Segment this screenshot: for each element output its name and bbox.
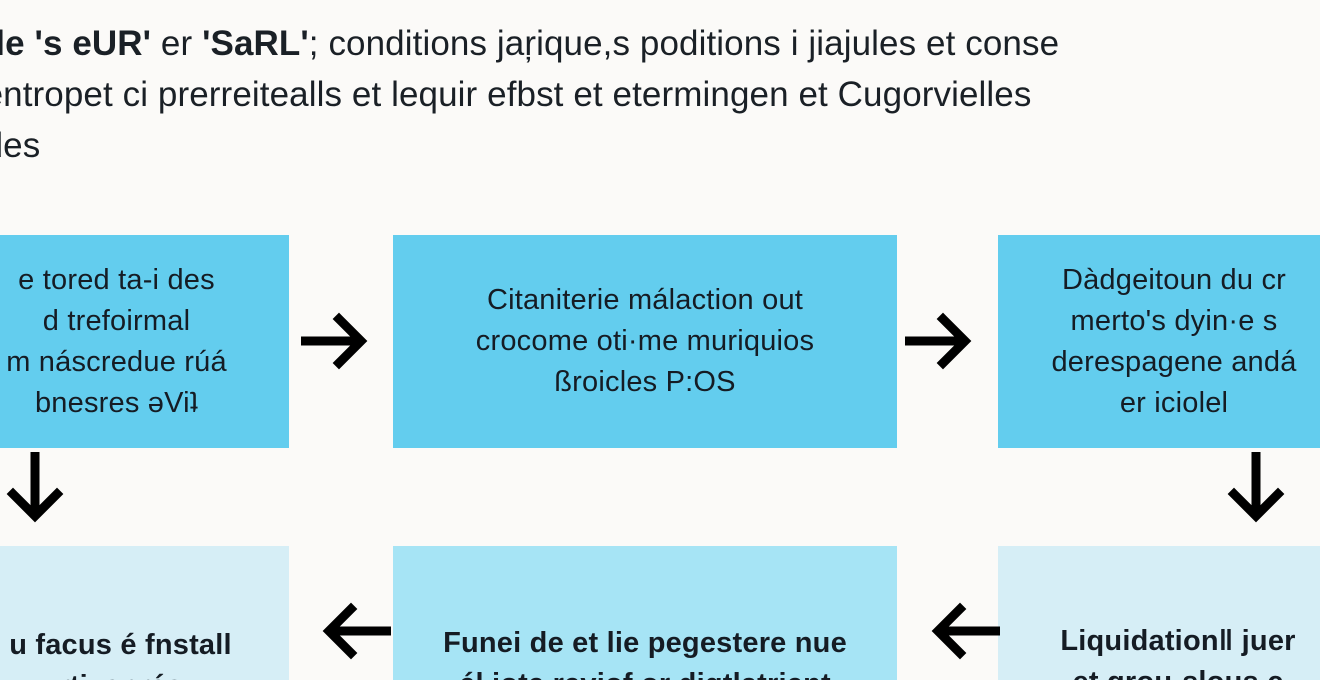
arrow-left-icon (311, 598, 391, 664)
flow-node-line: et grou-slous c (998, 662, 1320, 680)
flow-node-bottom-right[interactable]: Liquidationǁ jueret grou-slous c (998, 546, 1320, 680)
flow-node-bottom-left[interactable]: u facus é fnstallrtivanrés (0, 546, 289, 680)
flow-node-top-center[interactable]: Citaniterie málaction outcrocome oti·me … (393, 235, 897, 448)
flow-node-bottom-right-label: Liquidationǁ jueret grou-slous c (998, 621, 1320, 680)
flow-node-line: m náscredue rúá (0, 342, 289, 383)
flow-node-line: rtivanrés (0, 666, 289, 680)
flow-node-top-left[interactable]: e tored ta-i desd trefoirmalm náscredue … (0, 235, 289, 448)
arrow-down-icon (2, 452, 68, 528)
flow-node-top-left-label: e tored ta-i desd trefoirmalm náscredue … (0, 260, 289, 424)
arrow-down-icon (1223, 452, 1289, 528)
flow-node-line: er iciolel (998, 383, 1320, 424)
flow-node-bottom-center-label: Funei de et lie pegestere nueél jote rev… (409, 623, 881, 680)
flow-node-bottom-center[interactable]: Funei de et lie pegestere nueél jote rev… (393, 546, 897, 680)
flow-node-line: bnesres ǝViʇ (0, 383, 289, 424)
flow-node-bottom-left-label: u facus é fnstallrtivanrés (0, 625, 289, 680)
arrow-right-icon (905, 308, 979, 374)
flow-node-line: d trefoirmal (0, 301, 289, 342)
flow-node-top-right[interactable]: Dàdgeitoun du crmerto's dyin·e sderespag… (998, 235, 1320, 448)
arrow-left-icon (920, 598, 1000, 664)
flow-node-line: él jote reviof or digtlatrient (409, 664, 881, 680)
flow-node-line: Liquidationǁ juer (998, 621, 1320, 662)
flow-node-line: u facus é fnstall (0, 625, 289, 666)
flow-node-line: merto's dyin·e s (998, 301, 1320, 342)
arrow-right-icon (301, 308, 375, 374)
flow-node-line: crocome oti·me muriquios (409, 321, 881, 362)
flow-node-line: e tored ta-i des (0, 260, 289, 301)
flowchart: e tored ta-i desd trefoirmalm náscredue … (0, 0, 1320, 680)
flow-node-top-right-label: Dàdgeitoun du crmerto's dyin·e sderespag… (998, 260, 1320, 424)
flow-node-line: Funei de et lie pegestere nue (409, 623, 881, 664)
flow-node-line: Citaniterie málaction out (409, 280, 881, 321)
flow-node-line: derespagene andá (998, 342, 1320, 383)
flow-node-top-center-label: Citaniterie málaction outcrocome oti·me … (409, 280, 881, 403)
flow-node-line: Dàdgeitoun du cr (998, 260, 1320, 301)
flow-node-line: ßroicles P:OS (409, 362, 881, 403)
